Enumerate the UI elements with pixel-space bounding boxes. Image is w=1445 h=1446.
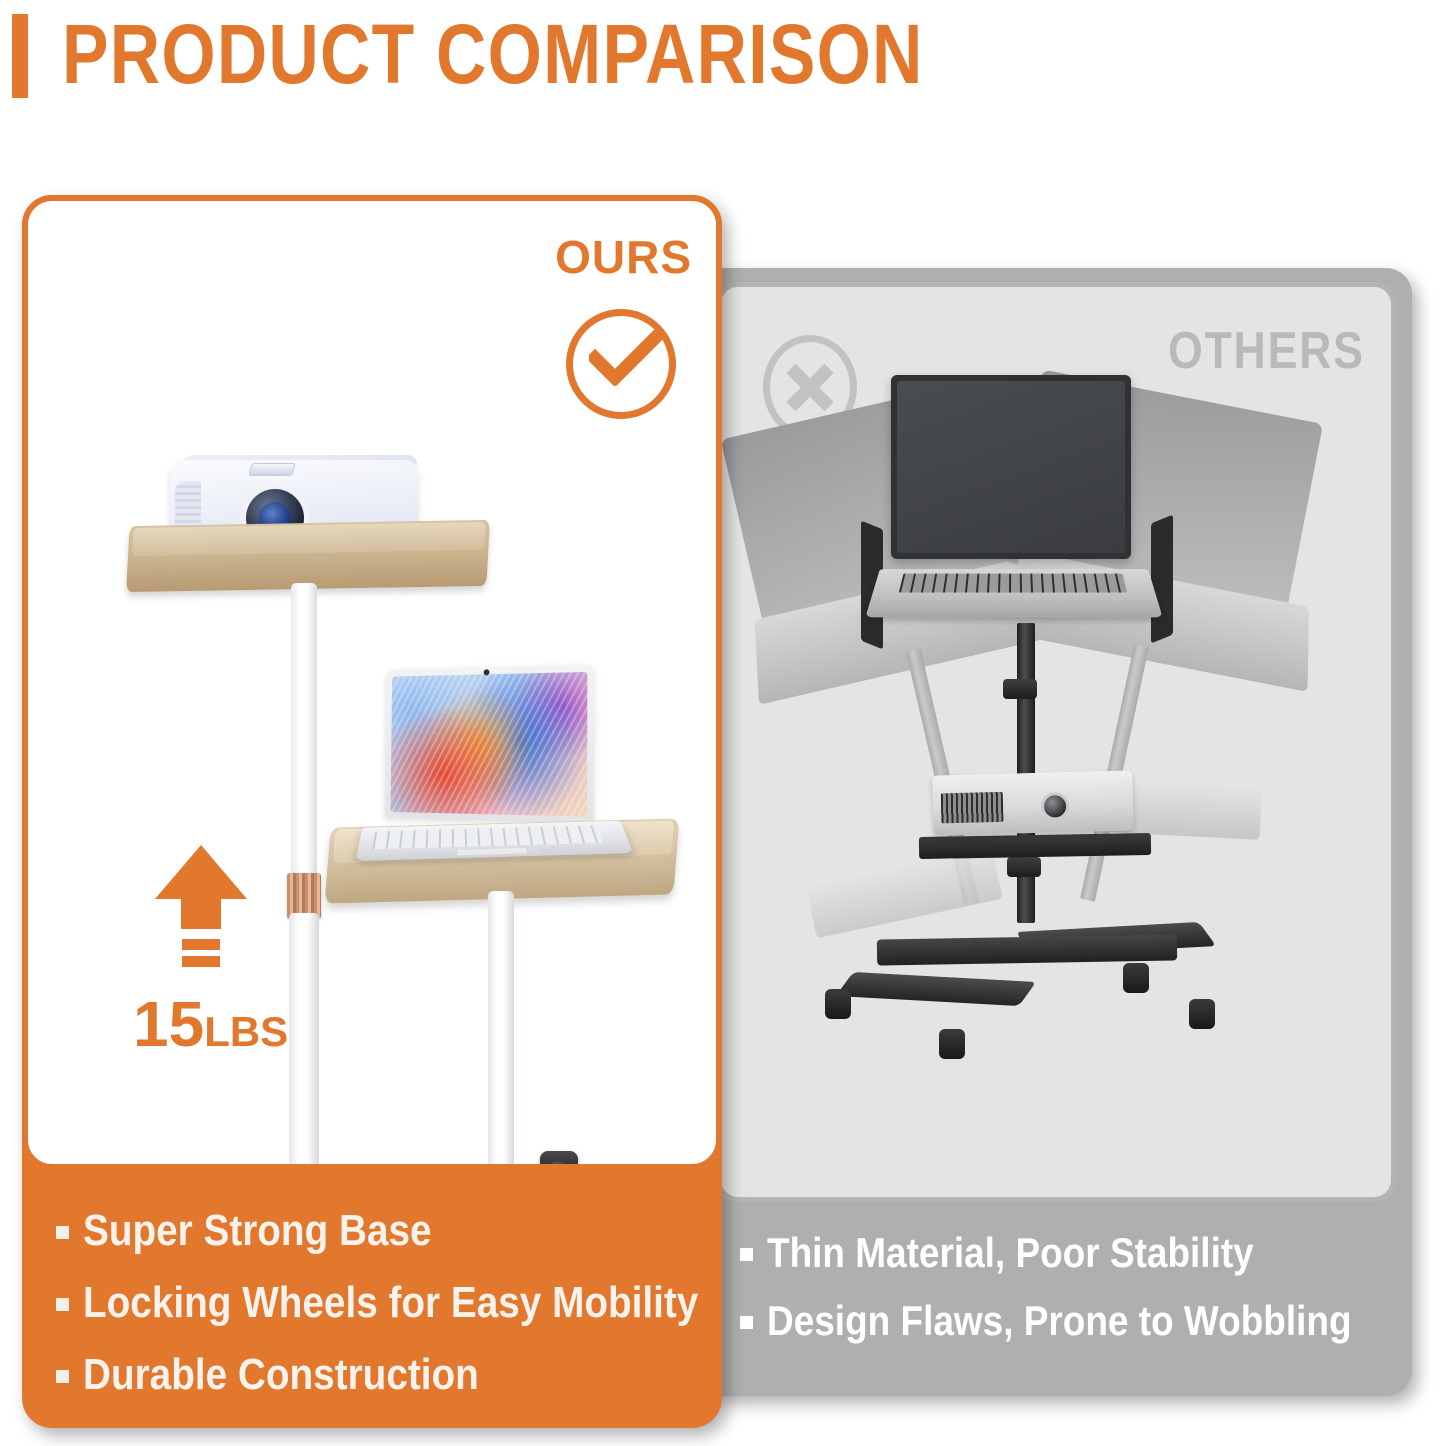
ours-product-illustration	[28, 201, 718, 1166]
load-up-arrow-icon	[151, 841, 251, 971]
projector-tray-icon	[919, 833, 1151, 859]
wood-shelf-icon	[126, 520, 490, 592]
black-h-base-icon	[877, 934, 1177, 965]
clamp-knob-icon	[1003, 679, 1037, 699]
projector-icon	[932, 770, 1134, 835]
ours-panel: OURS	[22, 195, 722, 1428]
projector-focus-dial-icon	[248, 463, 296, 476]
ours-image-card: OURS	[22, 195, 722, 1170]
others-feature-list: Thin Material, Poor Stability Design Fla…	[740, 1228, 1390, 1364]
list-item: Thin Material, Poor Stability	[740, 1228, 1390, 1278]
weight-unit: LBS	[204, 1008, 288, 1055]
list-item-label: Design Flaws, Prone to Wobbling	[767, 1296, 1352, 1346]
header: PRODUCT COMPARISON	[0, 0, 1445, 130]
list-item-label: Locking Wheels for Easy Mobility	[83, 1277, 698, 1329]
small-caster-icon	[1189, 999, 1215, 1029]
list-item-label: Durable Construction	[83, 1349, 479, 1401]
others-panel: OTHERS	[700, 268, 1412, 1396]
list-item: Locking Wheels for Easy Mobility	[56, 1277, 716, 1329]
projector-vent-icon	[941, 792, 1004, 824]
page-title: PRODUCT COMPARISON	[62, 6, 924, 102]
bullet-square-icon	[56, 1370, 69, 1383]
telescoping-pole-icon	[291, 583, 317, 883]
small-caster-icon	[825, 989, 851, 1019]
bullet-square-icon	[740, 1316, 753, 1329]
others-product-illustration	[721, 287, 1391, 1199]
laptop-wallpaper	[390, 672, 587, 817]
bullet-square-icon	[740, 1248, 753, 1261]
laptop-icon	[385, 665, 594, 823]
laptop-keyboard-icon	[865, 569, 1162, 617]
bullet-square-icon	[56, 1298, 69, 1311]
clamp-knob-icon	[1007, 857, 1041, 877]
small-caster-icon	[939, 1029, 965, 1059]
projector-lens-icon	[1041, 792, 1070, 821]
trackpad-icon	[456, 847, 528, 856]
comparison-infographic: PRODUCT COMPARISON OTHERS	[0, 0, 1445, 1446]
tilt-tray-icon	[1151, 515, 1173, 644]
list-item: Design Flaws, Prone to Wobbling	[740, 1296, 1390, 1346]
telescoping-pole-icon	[488, 891, 514, 1170]
laptop-icon	[891, 375, 1131, 559]
list-item-label: Super Strong Base	[83, 1205, 432, 1257]
caster-wheel-icon	[540, 1151, 578, 1170]
list-item: Durable Construction	[56, 1349, 716, 1401]
list-item-label: Thin Material, Poor Stability	[767, 1228, 1254, 1278]
weight-value: 15	[133, 988, 204, 1060]
keyboard-keys-icon	[899, 574, 1127, 593]
others-image-card: OTHERS	[716, 282, 1396, 1202]
bullet-square-icon	[56, 1226, 69, 1239]
accent-bar-icon	[12, 14, 28, 98]
ours-feature-list: Super Strong Base Locking Wheels for Eas…	[56, 1205, 716, 1421]
weight-capacity-label: 15LBS	[133, 992, 323, 1056]
keyboard-keys-icon	[372, 825, 603, 849]
small-caster-icon	[1123, 963, 1149, 993]
weight-capacity-callout: 15LBS	[133, 841, 323, 1056]
black-h-base-icon	[836, 972, 1036, 1006]
list-item: Super Strong Base	[56, 1205, 716, 1257]
